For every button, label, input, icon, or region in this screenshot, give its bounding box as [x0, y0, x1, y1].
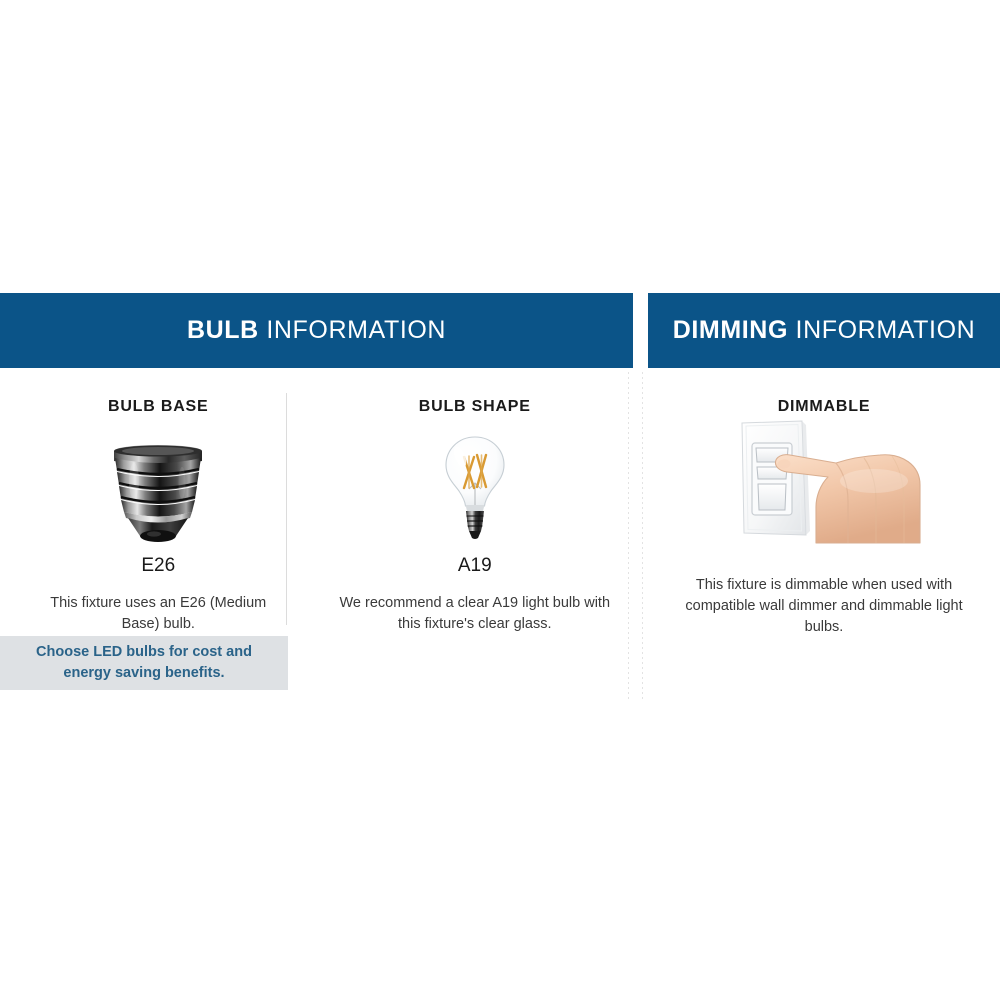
bulb-shape-code: A19 — [317, 555, 634, 577]
a19-light-bulb-icon — [436, 433, 514, 545]
column-dimmable: DIMMABLE — [648, 368, 1000, 638]
bulb-base-code: E26 — [0, 555, 317, 577]
bulb-information-header-strong: BULB — [187, 316, 259, 344]
bulb-information-columns: BULB BASE — [0, 368, 633, 635]
panel-divider-left — [628, 372, 629, 702]
bulb-shape-title: BULB SHAPE — [317, 398, 634, 416]
led-callout: Choose LED bulbs for cost and energy sav… — [0, 636, 288, 690]
column-bulb-base: BULB BASE — [0, 368, 317, 635]
bulb-columns-divider — [286, 393, 287, 625]
e26-screw-base-icon — [106, 441, 210, 545]
dimming-information-header-strong: DIMMING — [673, 316, 788, 344]
bulb-information-header-text: BULB INFORMATION — [187, 316, 446, 345]
column-bulb-shape: BULB SHAPE — [317, 368, 634, 635]
dimmable-figure — [648, 430, 1000, 545]
bulb-base-figure — [0, 430, 317, 545]
dimmable-description: This fixture is dimmable when used with … — [674, 575, 974, 638]
dimming-information-header-text: DIMMING INFORMATION — [673, 316, 976, 345]
bulb-base-title: BULB BASE — [0, 398, 317, 416]
bulb-information-header-rest: INFORMATION — [259, 316, 446, 344]
infographic-canvas: BULB INFORMATION DIMMING INFORMATION BUL… — [0, 0, 1000, 1000]
bulb-base-description: This fixture uses an E26 (Medium Base) b… — [33, 593, 283, 635]
bulb-shape-description: We recommend a clear A19 light bulb with… — [330, 593, 620, 635]
dimming-information-header-rest: INFORMATION — [788, 316, 975, 344]
dimming-information-body: DIMMABLE — [648, 368, 1000, 708]
bulb-information-header: BULB INFORMATION — [0, 293, 633, 368]
dimmable-title: DIMMABLE — [648, 398, 1000, 416]
bulb-shape-figure — [317, 430, 634, 545]
dimming-information-header: DIMMING INFORMATION — [648, 293, 1000, 368]
panel-divider-right — [642, 372, 643, 702]
dimming-information-columns: DIMMABLE — [648, 368, 1000, 638]
led-callout-text: Choose LED bulbs for cost and energy sav… — [0, 642, 288, 684]
wall-dimmer-switch-with-hand-icon — [724, 415, 924, 545]
